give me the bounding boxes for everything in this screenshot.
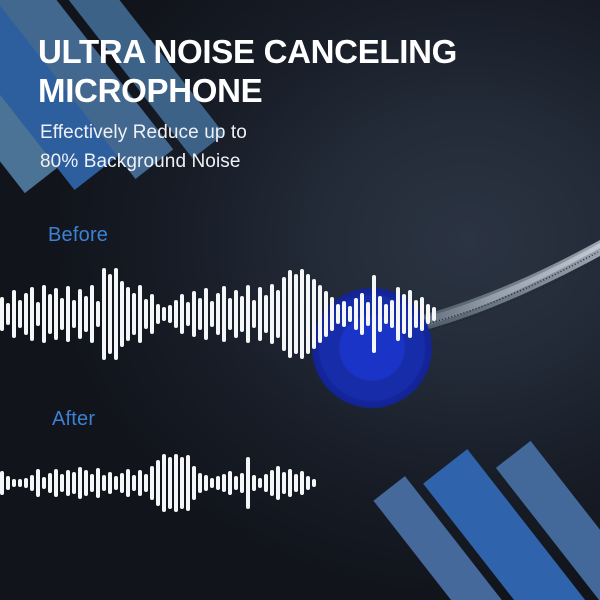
waveform-bar — [84, 296, 88, 333]
waveform-bar — [222, 474, 226, 492]
waveform-bar — [150, 294, 154, 334]
waveform-bar — [240, 296, 244, 333]
waveform-bar — [54, 469, 58, 498]
waveform-bar — [144, 474, 148, 492]
waveform-bar — [360, 293, 364, 335]
waveform-bar — [0, 297, 4, 332]
waveform-bar — [96, 468, 100, 498]
waveform-bar — [168, 457, 172, 510]
waveform-bar — [162, 307, 166, 322]
page-title: ULTRA NOISE CANCELING MICROPHONE — [38, 33, 508, 110]
waveform-bar — [246, 457, 250, 510]
waveform-bar — [390, 300, 394, 328]
waveform-bar — [354, 298, 358, 329]
waveform-bar — [18, 300, 22, 328]
waveform-bar — [312, 479, 316, 487]
waveform-bar — [204, 288, 208, 340]
page-subtitle: Effectively Reduce up to 80% Background … — [40, 118, 370, 177]
waveform-bar — [60, 298, 64, 329]
waveform-bar — [54, 288, 58, 340]
waveform-bar — [90, 285, 94, 342]
waveform-bar — [216, 293, 220, 335]
waveform-bar — [204, 475, 208, 491]
waveform-bar — [66, 470, 70, 495]
subtitle-line-2: 80% Background Noise — [40, 147, 370, 176]
waveform-bar — [186, 302, 190, 326]
waveform-bar — [294, 474, 298, 492]
waveform-bar — [378, 296, 382, 333]
waveform-bar — [6, 303, 10, 325]
waveform-bar — [336, 304, 340, 324]
waveform-bar — [282, 277, 286, 351]
waveform-bar — [210, 478, 214, 489]
waveform-bar — [72, 300, 76, 328]
waveform-bar — [162, 454, 166, 512]
waveform-bar — [30, 475, 34, 491]
waveform-bar — [24, 293, 28, 335]
waveform-bar — [72, 472, 76, 494]
waveform-bar — [300, 471, 304, 495]
waveform-bar — [342, 301, 346, 327]
waveform-bar — [210, 301, 214, 327]
waveform-bar — [60, 474, 64, 492]
waveform-bar — [6, 476, 10, 489]
waveform-bar — [192, 466, 196, 501]
waveform-bar — [120, 473, 124, 493]
waveform-bar — [156, 304, 160, 324]
waveform-bar — [84, 470, 88, 496]
waveform-bar — [222, 286, 226, 341]
waveform-bar — [258, 287, 262, 340]
waveform-bar — [144, 299, 148, 328]
waveform-bar — [402, 294, 406, 334]
before-label: Before — [48, 224, 108, 247]
subtitle-line-1: Effectively Reduce up to — [40, 118, 370, 147]
waveform-bar — [216, 476, 220, 489]
after-label: After — [52, 408, 95, 431]
waveform-bar — [24, 478, 28, 489]
product-poster: ULTRA NOISE CANCELING MICROPHONE Effecti… — [0, 0, 600, 600]
waveform-bar — [366, 302, 370, 326]
waveform-bar — [318, 285, 322, 344]
waveform-bar — [384, 304, 388, 324]
waveform-bar — [90, 474, 94, 492]
waveform-bar — [432, 307, 436, 322]
waveform-bar — [420, 297, 424, 332]
waveform-bar — [78, 289, 82, 339]
waveform-bar — [276, 290, 280, 338]
waveform-bar — [270, 470, 274, 496]
waveform-bar — [42, 285, 46, 342]
waveform-bar — [192, 291, 196, 337]
waveform-bar — [312, 279, 316, 349]
waveform-bar — [42, 477, 46, 489]
waveform-bar — [372, 275, 376, 352]
waveform-bar — [138, 470, 142, 495]
waveform-bar — [12, 290, 16, 338]
waveform-bar — [246, 285, 250, 344]
waveform-bar — [114, 268, 118, 360]
waveform-bar — [408, 290, 412, 338]
waveform-bar — [306, 274, 310, 355]
waveform-bar — [258, 478, 262, 489]
waveform-bar — [288, 270, 292, 358]
waveform-bar — [234, 290, 238, 338]
waveform-bar — [174, 300, 178, 328]
waveform-bar — [66, 286, 70, 341]
waveform-bar — [126, 287, 130, 340]
waveform-bar — [132, 475, 136, 492]
waveform-bar — [180, 457, 184, 509]
waveform-bar — [156, 460, 160, 506]
waveform-bar — [78, 467, 82, 498]
waveform-bar — [102, 475, 106, 491]
waveform-bar — [48, 294, 52, 334]
waveform-bar — [264, 474, 268, 492]
waveform-bar — [186, 455, 190, 510]
waveform-bar — [108, 472, 112, 495]
waveform-bar — [234, 476, 238, 490]
waveform-bar — [396, 287, 400, 340]
waveform-bar — [300, 269, 304, 359]
waveform-bar — [288, 469, 292, 498]
waveform-bar — [240, 473, 244, 493]
waveform-bar — [252, 300, 256, 328]
waveform-bar — [198, 298, 202, 329]
decorative-stripes-bottom-right — [370, 420, 600, 600]
waveform-bar — [0, 471, 4, 495]
waveform-bar — [120, 281, 124, 347]
waveform-bar — [102, 268, 106, 360]
waveform-bar — [276, 466, 280, 500]
waveform-bar — [168, 305, 172, 323]
waveform-bar — [180, 294, 184, 334]
waveform-bar — [270, 284, 274, 345]
waveform-bar — [198, 473, 202, 493]
waveform-bar — [348, 306, 352, 323]
waveform-bar — [228, 298, 232, 329]
waveform-bar — [252, 475, 256, 491]
waveform-bar — [228, 471, 232, 495]
waveform-bar — [306, 476, 310, 489]
waveform-bar — [12, 479, 16, 487]
waveform-bar — [132, 293, 136, 335]
waveform-bar — [36, 302, 40, 326]
waveform-bar — [330, 297, 334, 330]
waveform-bar — [324, 291, 328, 337]
waveform-bar — [282, 472, 286, 495]
waveform-bar — [30, 287, 34, 340]
waveform-bar — [138, 285, 142, 342]
waveform-bar — [96, 301, 100, 327]
waveform-bar — [48, 473, 52, 493]
waveform-bar — [264, 295, 268, 334]
waveform-bar — [174, 454, 178, 513]
waveform-before — [0, 268, 268, 360]
waveform-after — [0, 452, 268, 514]
waveform-bar — [414, 300, 418, 328]
waveform-bar — [426, 304, 430, 324]
waveform-bar — [108, 274, 112, 355]
waveform-bar — [114, 476, 118, 489]
waveform-bar — [126, 469, 130, 497]
waveform-bar — [36, 469, 40, 497]
waveform-bar — [18, 479, 22, 486]
waveform-bar — [294, 274, 298, 353]
waveform-bar — [150, 466, 154, 500]
